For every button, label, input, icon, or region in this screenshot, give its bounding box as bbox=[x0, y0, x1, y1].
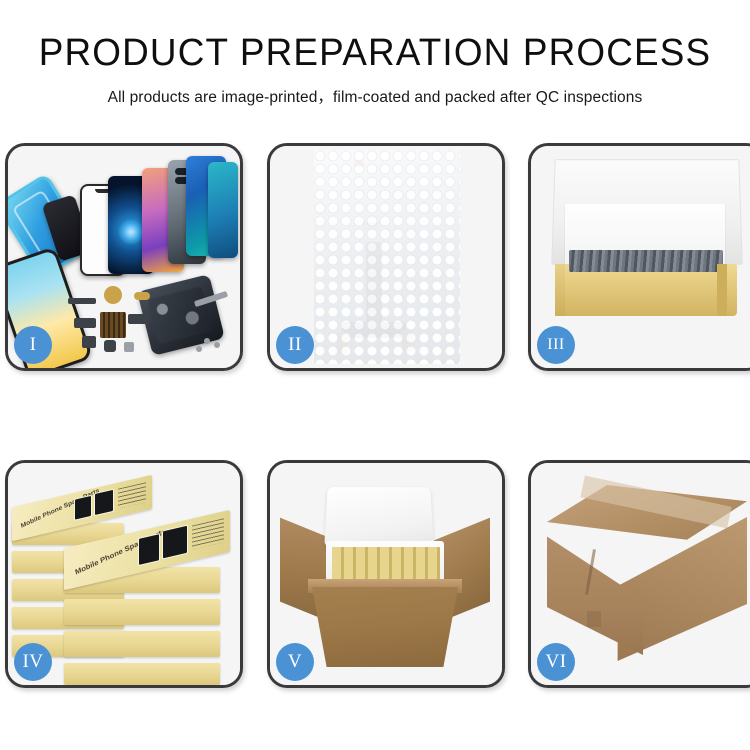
part-bracket-icon bbox=[124, 342, 134, 352]
bubble-wrap-bag-icon bbox=[314, 150, 460, 364]
step-badge-6: VI bbox=[537, 643, 575, 681]
step-badge-2: II bbox=[276, 326, 314, 364]
kraft-tray-icon bbox=[555, 264, 737, 316]
foam-lid-icon bbox=[324, 487, 434, 547]
step-badge-4: IV bbox=[14, 643, 52, 681]
carton-front-face bbox=[547, 529, 643, 655]
step-panel-2: II bbox=[267, 143, 505, 371]
step-panel-4: Mobile Phone Spare Parts Mobile Phone Sp… bbox=[5, 460, 243, 688]
carton-tab-icon bbox=[587, 611, 601, 627]
phone-housing-icon bbox=[137, 274, 225, 356]
page-subtitle: All products are image-printed，film-coat… bbox=[0, 74, 750, 107]
step-badge-5: V bbox=[276, 643, 314, 681]
shipping-carton-icon bbox=[547, 485, 747, 661]
step-panel-3: III bbox=[528, 143, 750, 371]
page-title: PRODUCT PREPARATION PROCESS bbox=[11, 0, 739, 74]
part-flex-2-icon bbox=[128, 314, 148, 324]
carton-body-icon bbox=[312, 587, 458, 667]
yellow-boxes-inside-icon bbox=[332, 547, 440, 583]
part-coil-icon bbox=[104, 286, 122, 304]
part-button-icon bbox=[134, 292, 150, 300]
step-panel-5: V bbox=[267, 460, 505, 688]
step-badge-3: III bbox=[537, 326, 575, 364]
part-speaker-icon bbox=[82, 336, 96, 348]
part-flex-icon bbox=[74, 318, 96, 328]
process-steps-grid: I II bbox=[5, 143, 745, 683]
step-panel-6: VI bbox=[528, 460, 750, 688]
part-screws-icon bbox=[204, 338, 210, 344]
page-header: PRODUCT PREPARATION PROCESS All products… bbox=[0, 0, 750, 107]
product-preparation-infographic: PRODUCT PREPARATION PROCESS All products… bbox=[0, 0, 750, 750]
part-strip-icon bbox=[68, 298, 96, 304]
part-connector-grid-icon bbox=[100, 312, 126, 338]
step-badge-1: I bbox=[14, 326, 52, 364]
step-panel-1: I bbox=[5, 143, 243, 371]
part-camera-icon bbox=[104, 340, 116, 352]
teal-phone-icon bbox=[208, 162, 238, 258]
